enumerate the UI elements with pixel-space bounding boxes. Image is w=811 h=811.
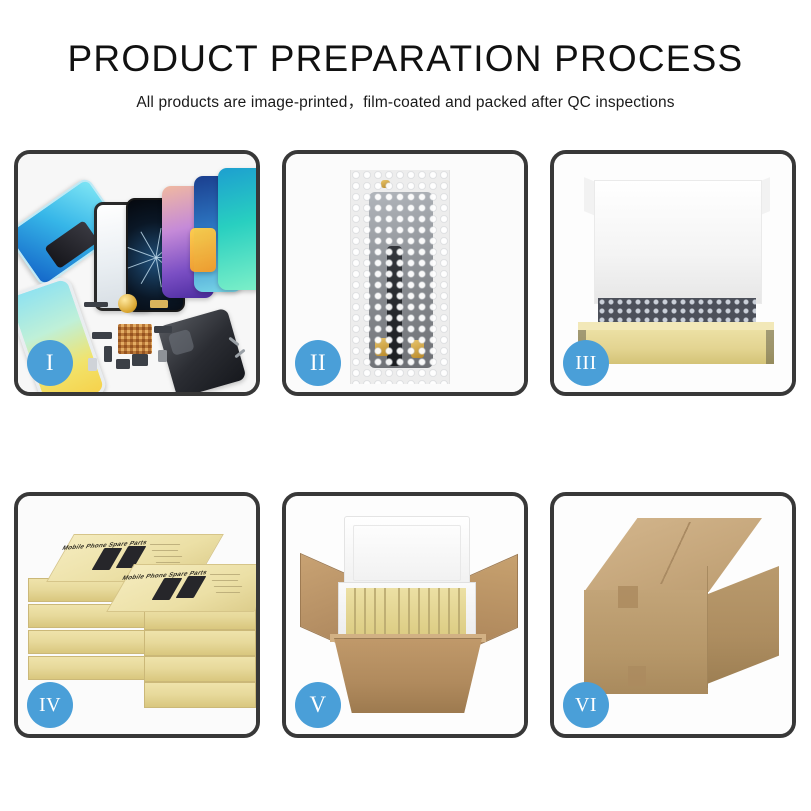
small-part	[104, 346, 112, 362]
box-spec-line	[154, 556, 183, 557]
box-lid-white	[594, 180, 762, 304]
stacked-box	[144, 630, 256, 656]
bubble-wrap-bag	[350, 170, 450, 384]
step-badge-1: I	[27, 340, 73, 386]
process-step-card-6: VI	[550, 492, 796, 738]
sealed-carton	[572, 518, 780, 714]
process-step-card-5: V	[282, 492, 528, 738]
page-subtitle: All products are image-printed，film-coat…	[0, 90, 811, 112]
small-part	[154, 326, 172, 333]
small-part	[116, 359, 130, 369]
box-spec-line	[152, 550, 179, 551]
phone-orange-screen	[190, 228, 216, 272]
phone-teal-screen	[218, 168, 256, 290]
carton-tape-upper	[618, 586, 638, 608]
box-spec-line	[156, 562, 181, 563]
process-step-card-1: I	[14, 150, 260, 396]
process-step-card-2: II	[282, 150, 528, 396]
small-part	[92, 332, 112, 339]
box-spec-line	[150, 544, 181, 545]
step-badge-3: III	[563, 340, 609, 386]
box-corner-right	[766, 330, 774, 364]
box-spec-line	[212, 580, 239, 581]
process-step-card-3: III	[550, 150, 796, 396]
step-badge-6: VI	[563, 682, 609, 728]
stacked-box	[144, 682, 256, 708]
stacked-box	[144, 656, 256, 682]
step-numeral: I	[46, 350, 54, 376]
small-part	[158, 350, 167, 362]
box-spec-line	[216, 592, 241, 593]
crack-lines	[156, 257, 157, 258]
small-part	[150, 300, 168, 308]
carton-front-face	[584, 590, 708, 694]
small-part	[132, 354, 148, 366]
process-step-grid: I II	[14, 150, 797, 738]
process-step-card-4: Mobile Phone Spare Parts Mobile Phone Sp…	[14, 492, 260, 738]
step-badge-4: IV	[27, 682, 73, 728]
inner-boxes-packed	[346, 588, 466, 634]
foam-lid	[344, 516, 470, 590]
box-spec-line	[210, 574, 241, 575]
small-part	[84, 302, 108, 307]
carton-side-face	[707, 566, 779, 684]
step-badge-5: V	[295, 682, 341, 728]
carton-body	[334, 638, 482, 713]
step-numeral: VI	[575, 694, 597, 717]
bubble-texture	[351, 170, 449, 384]
stacked-box	[28, 656, 148, 680]
box-spec-line	[214, 586, 243, 587]
step-numeral: IV	[39, 694, 61, 717]
step-badge-2: II	[295, 340, 341, 386]
step-numeral: III	[575, 352, 596, 375]
carton-tape-lower	[628, 666, 646, 686]
page-title: PRODUCT PREPARATION PROCESS	[0, 40, 811, 79]
chip-grid-component	[118, 324, 152, 354]
product-preparation-infographic: PRODUCT PREPARATION PROCESS All products…	[0, 0, 811, 811]
step-numeral: V	[309, 692, 326, 718]
small-part	[88, 358, 97, 371]
step-numeral: II	[310, 350, 326, 376]
header: PRODUCT PREPARATION PROCESS All products…	[0, 0, 811, 112]
stacked-box	[28, 630, 148, 654]
carton-corner-fold	[707, 566, 708, 688]
phone-backplate-disassembled	[157, 308, 247, 392]
camera-ring-icon	[118, 294, 137, 313]
